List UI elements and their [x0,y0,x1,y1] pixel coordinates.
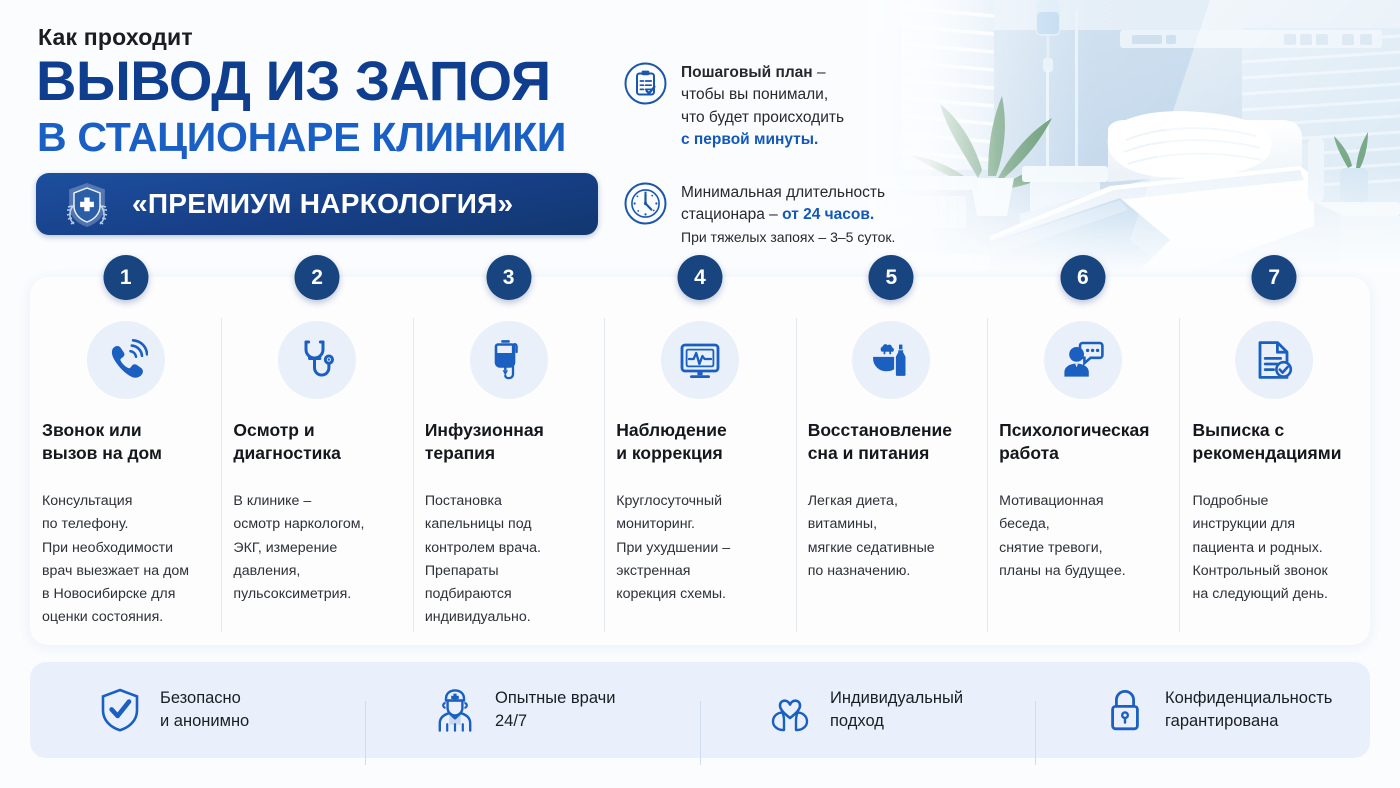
step-card-6[interactable]: 6 Психологическаяработа Мотивационнаябес… [987,277,1178,645]
step-title: Инфузионнаятерапия [425,419,598,465]
step-card-7[interactable]: 7 Выписка срекомендациями Подробныеинс [1179,277,1370,645]
step-card-3[interactable]: 3 Инфузионнаятерапия Постановкакапельниц… [413,277,604,645]
step-card-5[interactable]: 5 Восстановлениесна и питания Легк [796,277,987,645]
benefit-label: Индивидуальныйподход [830,687,963,734]
heart-in-hands-icon [768,687,812,733]
benefit-item-experienced-doctors: Опытные врачи24/7 [365,687,700,734]
step-title: Психологическаяработа [999,419,1172,465]
document-check-icon [1235,321,1313,399]
benefit-label: Опытные врачи24/7 [495,687,616,734]
infographic-page: Как проходит ВЫВОД ИЗ ЗАПОЯ В СТАЦИОНАРЕ… [0,0,1400,788]
page-title-line1: ВЫВОД ИЗ ЗАПОЯ [36,53,551,109]
step-title: Выписка срекомендациями [1193,419,1364,465]
bowl-salad-bottle-icon [852,321,930,399]
step-title: Звонок иливызов на дом [42,419,215,465]
header-bullet-step-plan: Пошаговый план – чтобы вы понимали, что … [624,62,844,151]
shield-check-icon [98,687,142,733]
step-number-badge: 4 [677,255,722,300]
bullet1-lead: Пошаговый план [681,64,813,81]
bullet1-line3: что будет происходить [681,109,844,126]
phone-ringing-icon [87,321,165,399]
benefit-item-individual-approach: Индивидуальныйподход [700,687,1035,734]
step-body: В клинике –осмотр наркологом,ЭКГ, измере… [233,490,406,606]
header-bullet-1-text: Пошаговый план – чтобы вы понимали, что … [681,62,844,151]
doctor-nurse-icon [433,687,477,733]
bullet2-highlight: от 24 часов. [782,206,874,223]
step-body: Подробныеинструкции дляпациента и родных… [1193,490,1364,606]
padlock-icon [1103,687,1147,733]
step-title: Осмотр идиагностика [233,419,406,465]
step-number-badge: 1 [103,255,148,300]
step-card-1[interactable]: 1 Звонок иливызов на дом Консультацияпо … [30,277,221,645]
step-number-badge: 7 [1252,255,1297,300]
step-body: Постановкакапельницы подконтролем врача.… [425,490,598,630]
monitor-heartbeat-icon [661,321,739,399]
step-title: Наблюдениеи коррекция [616,419,789,465]
bullet2-line1: Минимальная длительность [681,184,885,201]
iv-drip-bag-icon [470,321,548,399]
step-body: Мотивационнаябеседа,снятие тревоги,планы… [999,490,1172,583]
hospital-room-photo [870,0,1400,272]
step-body: Круглосуточныймониторинг.При ухудшении –… [616,490,789,606]
step-number-badge: 6 [1060,255,1105,300]
page-title-line2: В СТАЦИОНАРЕ КЛИНИКИ [37,117,566,158]
bullet1-dash: – [813,64,826,81]
header: Как проходит ВЫВОД ИЗ ЗАПОЯ В СТАЦИОНАРЕ… [0,0,900,272]
benefit-item-safe-anonymous: Безопаснои анонимно [30,687,365,734]
step-number-badge: 3 [486,255,531,300]
header-kicker: Как проходит [38,24,193,51]
benefit-label: Конфиденциальностьгарантирована [1165,687,1332,734]
clipboard-checklist-icon [624,62,667,105]
step-number-badge: 2 [295,255,340,300]
shield-cross-laurel-icon [58,175,116,233]
stethoscope-icon [278,321,356,399]
brand-name: «ПРЕМИУМ НАРКОЛОГИЯ» [132,188,513,220]
brand-badge[interactable]: «ПРЕМИУМ НАРКОЛОГИЯ» [36,173,598,235]
header-bullet-2-text: Минимальная длительность стационара – от… [681,182,895,249]
benefit-item-confidentiality: Конфиденциальностьгарантирована [1035,687,1370,734]
step-card-2[interactable]: 2 Осмотр идиагностика В клинике –о [221,277,412,645]
bullet1-line2: чтобы вы понимали, [681,86,828,103]
step-body: Консультацияпо телефону.При необходимост… [42,490,215,630]
benefits-bar: Безопаснои анонимно [30,662,1370,758]
steps-row: 1 Звонок иливызов на дом Консультацияпо … [30,277,1370,645]
step-card-4[interactable]: 4 Наблюдениеи коррекция Круглосуточныймо… [604,277,795,645]
step-body: Легкая диета,витамины,мягкие седативныеп… [808,490,981,583]
bullet2-line3: При тяжелых запоях – 3–5 суток. [681,229,895,245]
bullet1-highlight: с первой минуты. [681,131,818,148]
clock-icon [624,182,667,225]
step-number-badge: 5 [869,255,914,300]
person-speech-bubble-icon [1044,321,1122,399]
benefit-label: Безопаснои анонимно [160,687,249,734]
step-title: Восстановлениесна и питания [808,419,981,465]
steps-card: 1 Звонок иливызов на дом Консультацияпо … [30,277,1370,645]
bullet2-line2-prefix: стационара – [681,206,782,223]
header-bullet-duration: Минимальная длительность стационара – от… [624,182,895,249]
